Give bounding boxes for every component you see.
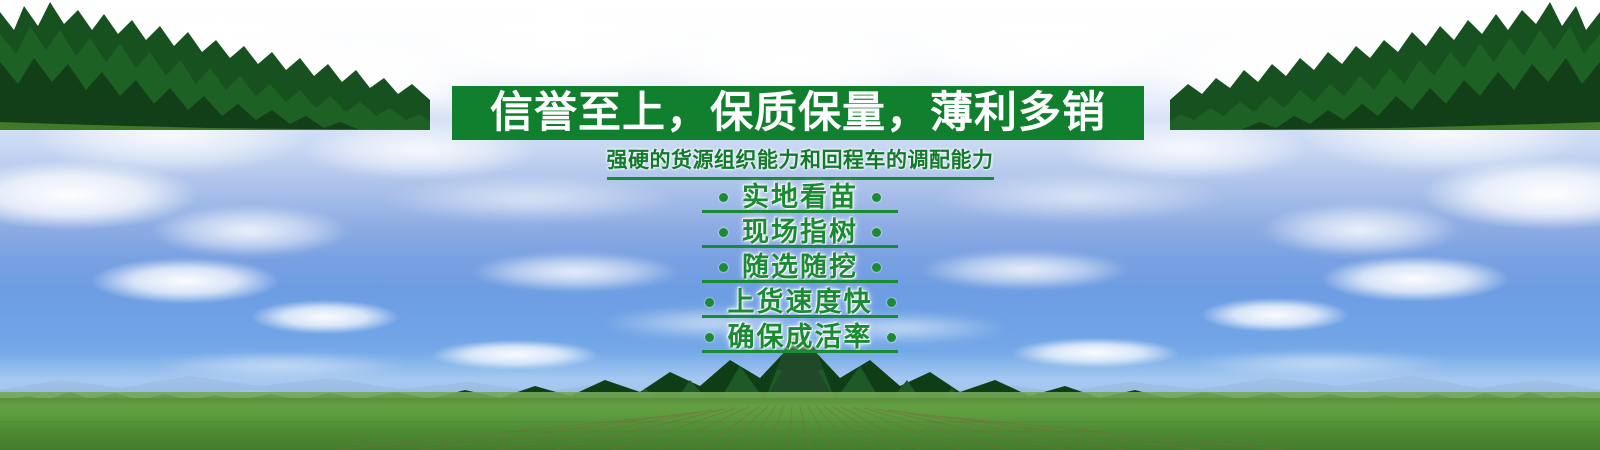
- feature-underline: [702, 315, 898, 318]
- subtitle-text: 强硬的货源组织能力和回程车的调配能力: [607, 144, 994, 180]
- feature-label: 现场指树: [742, 219, 858, 246]
- bullet-dot-icon: [705, 333, 714, 342]
- feature-underline: [702, 350, 898, 353]
- bullet-dot-icon: [719, 263, 728, 272]
- bullet-dot-icon: [705, 298, 714, 307]
- bullet-dot-icon: [887, 298, 896, 307]
- feature-item: 随选随挖: [0, 250, 1600, 285]
- promotional-banner: 信誉至上，保质保量，薄利多销 强硬的货源组织能力和回程车的调配能力 实地看苗 现…: [0, 0, 1600, 450]
- feature-label: 上货速度快: [728, 289, 873, 316]
- bullet-dot-icon: [872, 263, 881, 272]
- feature-label: 确保成活率: [728, 324, 873, 351]
- feature-label: 随选随挖: [742, 254, 858, 281]
- headline-text: 信誉至上，保质保量，薄利多销: [490, 92, 1106, 135]
- bullet-dot-icon: [872, 193, 881, 202]
- headline-bar: 信誉至上，保质保量，薄利多销: [452, 86, 1144, 140]
- feature-underline: [702, 280, 898, 283]
- bullet-dot-icon: [872, 228, 881, 237]
- feature-item: 上货速度快: [0, 285, 1600, 320]
- bullet-dot-icon: [887, 333, 896, 342]
- bullet-dot-icon: [719, 193, 728, 202]
- banner-text-content: 信誉至上，保质保量，薄利多销 强硬的货源组织能力和回程车的调配能力 实地看苗 现…: [0, 0, 1600, 450]
- feature-underline: [702, 210, 898, 213]
- subtitle-container: 强硬的货源组织能力和回程车的调配能力: [0, 144, 1600, 180]
- feature-item: 现场指树: [0, 215, 1600, 250]
- feature-item: 实地看苗: [0, 180, 1600, 215]
- feature-list: 实地看苗 现场指树 随选随挖: [0, 180, 1600, 355]
- bullet-dot-icon: [719, 228, 728, 237]
- feature-item: 确保成活率: [0, 320, 1600, 355]
- feature-underline: [702, 245, 898, 248]
- feature-label: 实地看苗: [742, 184, 858, 211]
